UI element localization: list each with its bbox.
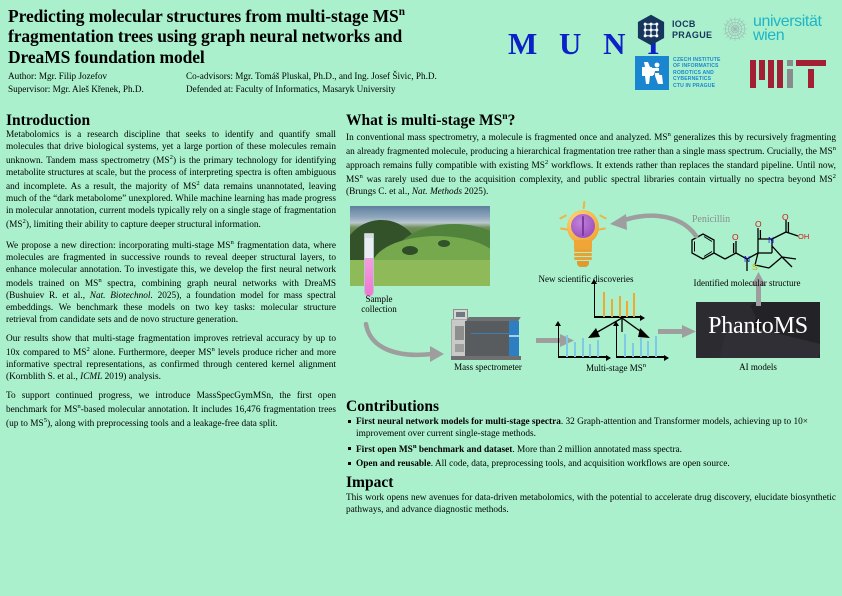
introduction-paragraph-3: Our results show that multi-stage fragme…	[6, 334, 336, 384]
brain-icon	[571, 214, 595, 238]
contribution-2-bold: First open MSn benchmark and dataset	[356, 445, 512, 455]
atom-label-nitrogen-amide: N	[744, 254, 750, 264]
caption-multistage-text: Multi-stage MS	[586, 363, 643, 373]
lightbulb-brain-icon	[560, 208, 606, 270]
ciirc-emblem-icon	[635, 56, 669, 90]
page-title: Predicting molecular structures from mul…	[8, 6, 528, 67]
poster-root: Predicting molecular structures from mul…	[0, 0, 842, 596]
atom-label-oxygen-amide: O	[732, 232, 739, 242]
contributions-list: First neural network models for multi-st…	[346, 416, 836, 470]
caption-ai-models: AI models	[706, 362, 810, 373]
coadvisors-line: Co-advisors: Mgr. Tomáš Pluskal, Ph.D., …	[186, 70, 447, 83]
atom-label-hydroxyl: OH	[798, 232, 809, 241]
univie-seal-icon	[720, 14, 750, 44]
contribution-2-rest: . More than 2 million annotated mass spe…	[512, 445, 682, 455]
whatis-p1-g: 2025).	[462, 187, 488, 197]
arrow-spectra-to-ai	[658, 324, 698, 340]
whatis-p1-e: was rarely used due to the acquisition c…	[363, 175, 833, 185]
poster-columns: Introduction Metabolomics is a research …	[0, 112, 842, 596]
introduction-paragraph-1: Metabolomics is a research discipline th…	[6, 130, 336, 232]
iocb-hexagon-icon	[635, 14, 667, 46]
university-of-vienna-logo: universität wien	[720, 14, 822, 44]
ciirc-line-5: CTU in Prague	[673, 83, 721, 90]
right-column: What is multi-stage MSn? In conventional…	[344, 112, 836, 592]
arrow-structure-to-discoveries	[596, 210, 702, 242]
whatis-p1-a: In conventional mass spectrometry, a mol…	[346, 133, 668, 143]
atom-label-oxygen-carboxyl: O	[782, 212, 789, 222]
mit-logo	[750, 56, 830, 90]
iocb-line-2: PRAGUE	[672, 30, 712, 41]
iocb-line-1: IOCB	[672, 19, 712, 30]
intro-p3-b: alone. Furthermore, deeper MS	[90, 348, 212, 358]
introduction-paragraph-2: We propose a new direction: incorporatin…	[6, 239, 336, 327]
caption-sample-collection: Sample collection	[344, 294, 414, 316]
caption-multistage-msn: Multi-stage MSn	[568, 362, 664, 374]
left-column: Introduction Metabolomics is a research …	[6, 112, 344, 592]
whatis-p1-f: (Brungs C. et al.,	[346, 187, 412, 197]
contribution-3-bold: Open and reusable	[356, 459, 431, 469]
title-superscript-n: n	[399, 6, 405, 18]
contribution-3-rest: . All code, data, preprocessing tools, a…	[431, 459, 730, 469]
caption-identified-structure: Identified molecular structure	[662, 278, 832, 289]
intro-p2-citation: Nat. Biotechnol.	[90, 291, 153, 301]
whatis-heading-b: ?	[508, 112, 516, 129]
title-block: Predicting molecular structures from mul…	[8, 6, 528, 95]
title-line-3: DreaMS foundation model	[8, 47, 205, 67]
impact-paragraph: This work opens new avenues for data-dri…	[346, 493, 836, 517]
intro-p3-d: 2019) analysis.	[102, 372, 161, 382]
intro-p3-citation: ICML	[80, 372, 102, 382]
whatis-p1-citation: Nat. Methods	[412, 187, 462, 197]
ciirc-logo-text: Czech Institute of Informatics Robotics …	[673, 57, 721, 90]
intro-p2-a: We propose a new direction: incorporatin…	[6, 241, 230, 251]
contribution-2-bold-a: First open MS	[356, 445, 413, 455]
caption-mass-spectrometer: Mass spectrometer	[426, 362, 550, 373]
author-line: Author: Mgr. Filip Jozefov	[8, 70, 186, 83]
what-is-msn-paragraph: In conventional mass spectrometry, a mol…	[346, 131, 836, 199]
phantoms-ai-model-box: PhantoMS	[696, 302, 820, 358]
whatis-heading-a: What is multi-stage MS	[346, 112, 502, 129]
impact-heading: Impact	[346, 474, 836, 491]
intro-p1-d: ), limiting their ability to capture dee…	[26, 220, 261, 230]
phantoms-wordmark: PhantoMS	[696, 313, 820, 340]
contribution-item-2: First open MSn benchmark and dataset. Mo…	[356, 443, 836, 456]
atom-label-sulfur: S	[752, 262, 758, 272]
iocb-logo-text: IOCB PRAGUE	[672, 19, 712, 40]
supervisor-line: Supervisor: Mgr. Aleš Křenek, Ph.D.	[8, 83, 186, 96]
spectrum-ms2-top	[594, 284, 642, 318]
mit-wordmark-icon	[750, 56, 830, 90]
ciirc-ctu-logo: Czech Institute of Informatics Robotics …	[635, 56, 721, 90]
spectrum-ms3-left	[558, 326, 608, 358]
contribution-1-bold: First neural network models for multi-st…	[356, 417, 561, 427]
whatis-p1-sup2: n	[833, 145, 836, 152]
logo-bar: M U N I	[502, 6, 838, 110]
spectrometer-detector	[509, 321, 519, 359]
byline: Author: Mgr. Filip Jozefov Co-advisors: …	[8, 70, 447, 95]
caption-multistage-sup: n	[643, 362, 646, 369]
defended-line: Defended at: Faculty of Informatics, Mas…	[186, 83, 447, 96]
caption-new-discoveries: New scientific discoveries	[512, 274, 660, 285]
arrow-sample-to-spectrometer	[360, 322, 452, 366]
atom-label-nitrogen-lactam: N	[768, 235, 774, 245]
whatis-p1-c: approach remains fully compatible with e…	[346, 161, 545, 171]
sample-test-tube-icon	[364, 233, 374, 297]
caption-sample-line1: Sample	[344, 294, 414, 305]
title-line-2: fragmentation trees using graph neural n…	[8, 26, 402, 46]
what-is-msn-heading: What is multi-stage MSn?	[346, 112, 836, 130]
poster-header: Predicting molecular structures from mul…	[0, 0, 842, 112]
ciirc-line-2: of Informatics	[673, 63, 721, 70]
introduction-paragraph-4: To support continued progress, we introd…	[6, 391, 336, 431]
univie-logo-text: universität wien	[753, 15, 822, 43]
univie-line-2: wien	[753, 29, 822, 43]
introduction-heading: Introduction	[6, 112, 336, 129]
workflow-figure: Sample collection	[346, 206, 836, 398]
contributions-heading: Contributions	[346, 398, 836, 415]
mass-spectrometer-icon	[449, 309, 523, 359]
contribution-item-1: First neural network models for multi-st…	[356, 416, 836, 440]
whatis-p1-sup5: 2	[833, 173, 836, 180]
caption-sample-line2: collection	[344, 304, 414, 315]
contribution-item-3: Open and reusable. All code, data, prepr…	[356, 458, 836, 470]
ciirc-robot-icon	[635, 56, 669, 90]
iocb-prague-logo: IOCB PRAGUE	[635, 14, 712, 46]
intro-p4-c: ), along with preprocessing tools and a …	[47, 419, 278, 429]
title-line-1: Predicting molecular structures from mul…	[8, 6, 399, 26]
contribution-2-bold-b: benchmark and dataset	[417, 445, 513, 455]
